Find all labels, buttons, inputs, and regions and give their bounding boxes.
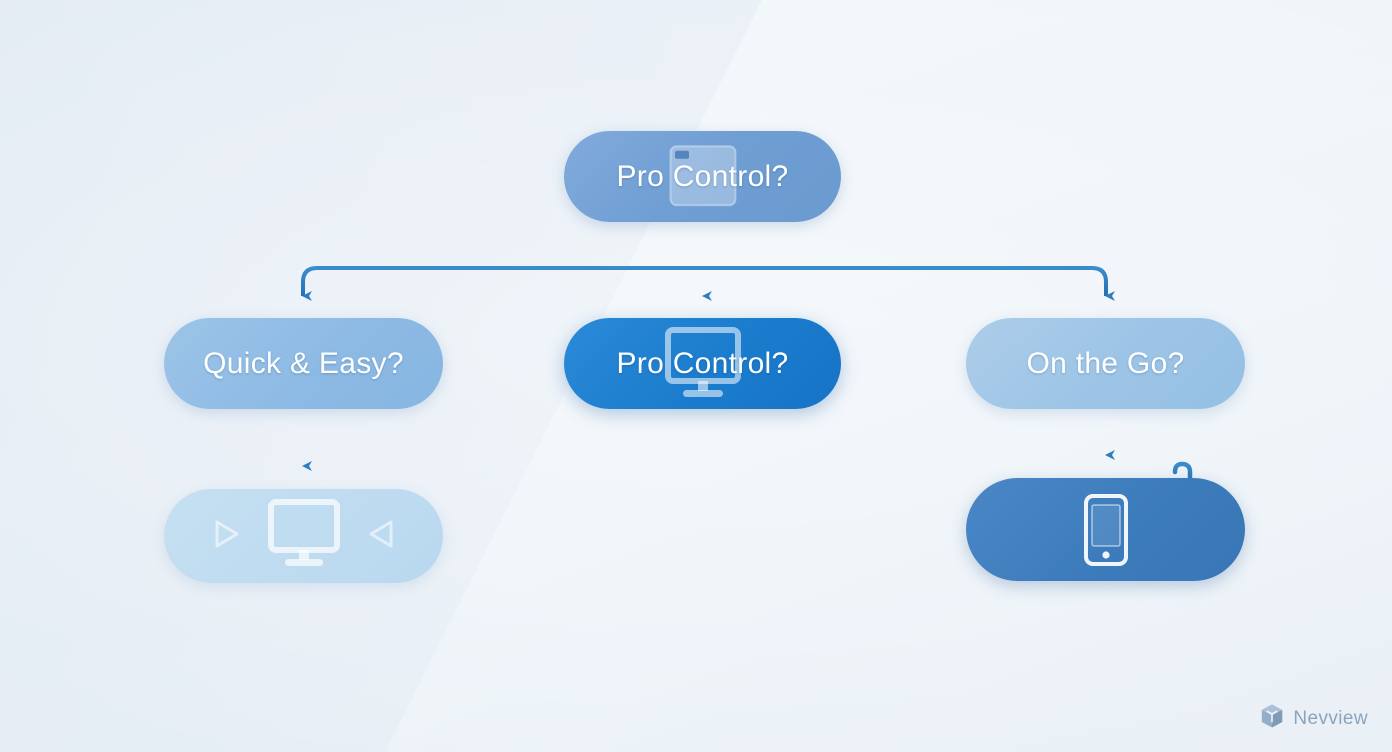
brand-watermark: Nevview: [1260, 703, 1368, 734]
desktop-monitor-icon: [268, 499, 340, 574]
node-root-pro-control[interactable]: Pro Control?: [564, 131, 841, 222]
node-go-label: On the Go?: [1026, 347, 1184, 381]
play-triangle-left-icon: [366, 518, 396, 555]
node-pro-control[interactable]: Pro Control?: [564, 318, 841, 409]
node-quick-and-easy[interactable]: Quick & Easy?: [164, 318, 443, 409]
node-on-the-go[interactable]: On the Go?: [966, 318, 1245, 409]
brand-name: Nevview: [1293, 708, 1368, 730]
connector-bus-right: [703, 268, 1106, 296]
node-quick-label: Quick & Easy?: [203, 347, 404, 381]
desktop-result-icon-row: [212, 499, 396, 574]
connector-bus-left: [303, 268, 703, 296]
node-mobile-result[interactable]: [966, 478, 1245, 581]
node-pro-label: Pro Control?: [616, 347, 788, 381]
play-triangle-right-icon: [212, 518, 242, 555]
mobile-phone-icon: [1084, 494, 1128, 566]
node-root-label: Pro Control?: [616, 160, 788, 194]
node-desktop-result[interactable]: [164, 489, 443, 583]
cube-logo-icon: [1260, 703, 1284, 734]
diagram-canvas: Pro Control? Quick & Easy? Pro Control? …: [0, 0, 1392, 752]
